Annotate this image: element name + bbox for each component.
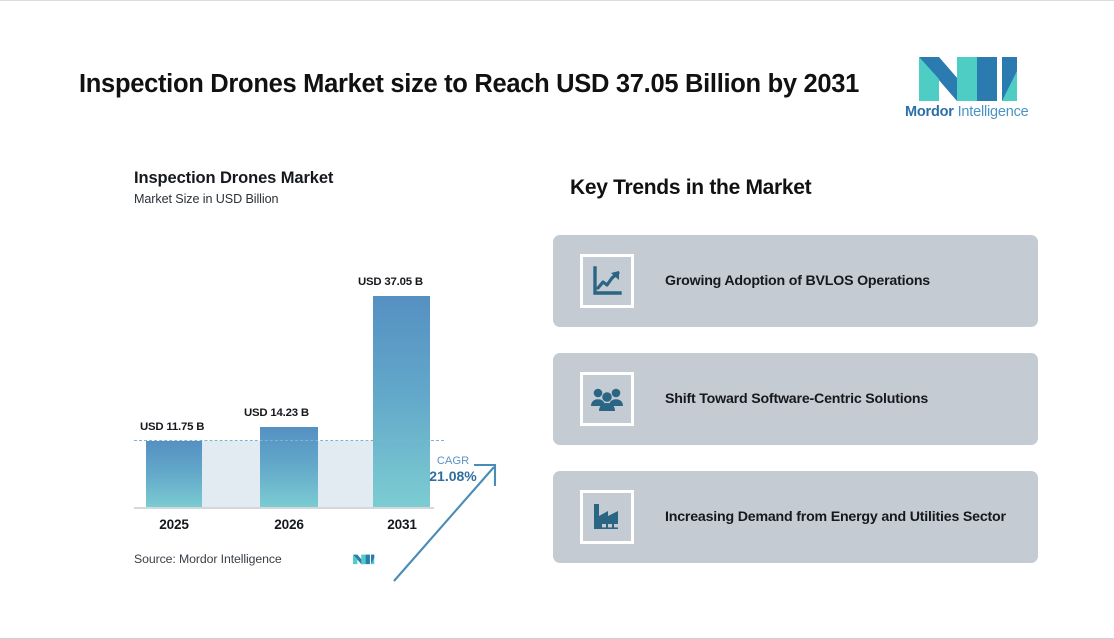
factory-icon xyxy=(590,500,624,534)
chart-source-label: Source: Mordor Intelligence xyxy=(134,552,282,566)
reference-dashed-line xyxy=(134,440,444,441)
chart-source-row: Source: Mordor Intelligence xyxy=(134,549,434,568)
mordor-intelligence-logo: Mordor Intelligence xyxy=(905,49,1025,121)
trend-icon-box xyxy=(580,254,634,308)
line-chart-growth-icon xyxy=(590,264,624,298)
page-title: Inspection Drones Market size to Reach U… xyxy=(79,69,869,101)
trend-card-text: Increasing Demand from Energy and Utilit… xyxy=(665,507,1006,528)
infographic-page: Inspection Drones Market size to Reach U… xyxy=(0,0,1114,639)
trend-card-text: Growing Adoption of BVLOS Operations xyxy=(665,271,930,292)
bar-2025 xyxy=(146,441,202,509)
xtick-2025: 2025 xyxy=(144,517,204,532)
chart-title: Inspection Drones Market xyxy=(134,169,454,188)
mordor-m-i-monogram-icon xyxy=(905,49,1025,101)
bar-label-2026: USD 14.23 B xyxy=(244,407,309,419)
mordor-monogram-icon xyxy=(350,549,376,568)
chart-filler-panel xyxy=(202,441,260,509)
brand-wordmark: Mordor Intelligence xyxy=(905,104,1025,120)
chart-subtitle: Market Size in USD Billion xyxy=(134,192,454,206)
xtick-2031: 2031 xyxy=(372,517,432,532)
xtick-2026: 2026 xyxy=(259,517,319,532)
trend-card[interactable]: Increasing Demand from Energy and Utilit… xyxy=(553,471,1038,563)
bar-label-2025: USD 11.75 B xyxy=(140,421,204,433)
trend-card[interactable]: Shift Toward Software-Centric Solutions xyxy=(553,353,1038,445)
brand-name-bold: Mordor xyxy=(905,104,954,120)
people-group-icon xyxy=(590,382,624,416)
chart-panel: Inspection Drones Market Market Size in … xyxy=(134,169,454,569)
trend-card-text: Shift Toward Software-Centric Solutions xyxy=(665,389,928,410)
bar-chart-plot: USD 11.75 B USD 14.23 B USD 37.05 B CAGR… xyxy=(134,221,434,509)
trend-icon-box xyxy=(580,372,634,426)
trend-icon-box xyxy=(580,490,634,544)
brand-name-light: Intelligence xyxy=(954,104,1029,120)
key-trends-heading: Key Trends in the Market xyxy=(570,176,811,200)
bar-label-2031: USD 37.05 B xyxy=(358,276,423,288)
chart-axis-line xyxy=(134,507,434,509)
trend-card[interactable]: Growing Adoption of BVLOS Operations xyxy=(553,235,1038,327)
